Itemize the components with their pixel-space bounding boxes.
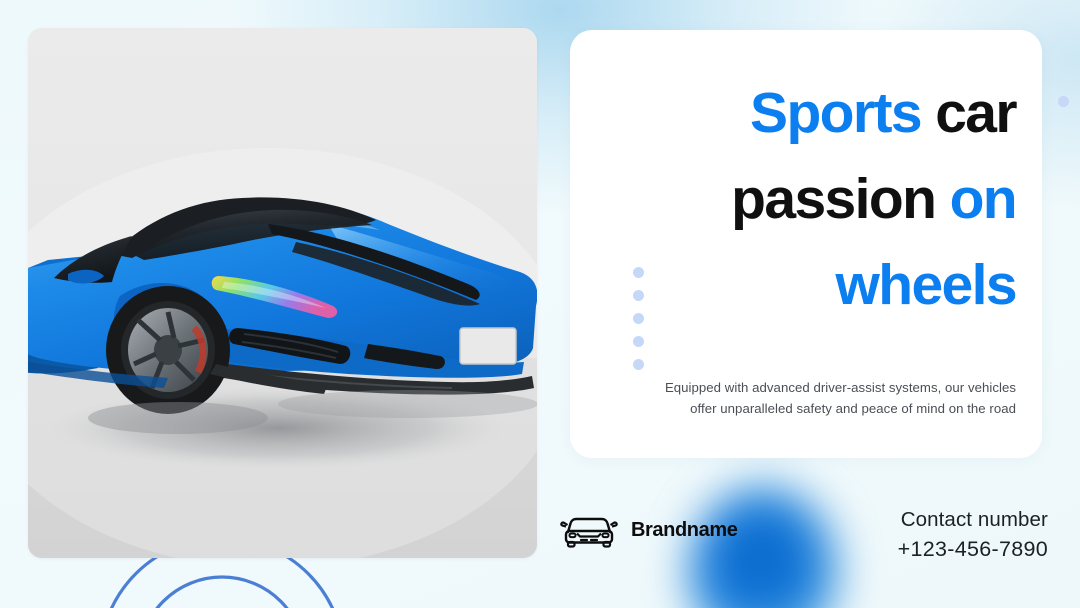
headline-word-on: on [950, 167, 1016, 231]
brand-name: Brandname [631, 519, 737, 542]
dot-decoration [633, 313, 644, 324]
headline-word-wheels: wheels [836, 253, 1017, 317]
dot-decoration-column [633, 267, 644, 370]
dot-decoration [1058, 96, 1069, 107]
dot-decoration [633, 267, 644, 278]
dot-decoration [633, 336, 644, 347]
sports-car-photo [28, 28, 537, 558]
headline-line-1: Sports car [596, 70, 1016, 156]
headline-card: Sports car passion on wheels Equipped wi… [570, 30, 1042, 458]
dot-decoration [633, 290, 644, 301]
headline-word-car: car [921, 81, 1016, 145]
contact-phone[interactable]: +123-456-7890 [898, 534, 1048, 565]
brand-lockup[interactable]: Brandname [560, 510, 737, 550]
headline-word-sports: Sports [750, 81, 921, 145]
headline-line-2: passion on [596, 156, 1016, 242]
page-title: Sports car passion on wheels [596, 70, 1016, 328]
contact-label: Contact number [898, 505, 1048, 534]
car-front-icon [560, 510, 618, 550]
body-paragraph: Equipped with advanced driver-assist sys… [636, 377, 1016, 419]
headline-line-3: wheels [596, 242, 1016, 328]
dot-decoration [633, 359, 644, 370]
poster-canvas: Sports car passion on wheels Equipped wi… [0, 0, 1080, 608]
headline-word-passion: passion [731, 167, 949, 231]
contact-block: Contact number +123-456-7890 [898, 505, 1048, 565]
